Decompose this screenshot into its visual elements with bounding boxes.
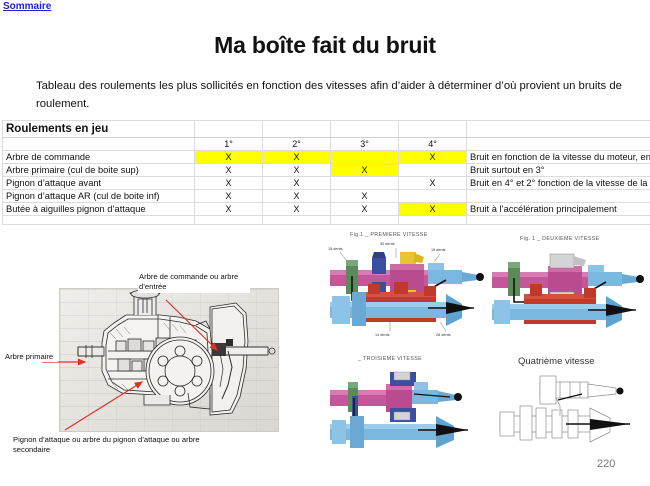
table-title-pad-note xyxy=(467,121,650,138)
trailing-c6 xyxy=(467,216,650,225)
bearing-note-cell: Bruit surtout en 3° xyxy=(467,164,650,177)
table-title-pad-1 xyxy=(195,121,263,138)
trailing-c5 xyxy=(399,216,467,225)
gear-cell-1: X xyxy=(195,203,263,216)
table-row: Butée à aiguilles pignon d’attaqueXXXXBr… xyxy=(3,203,650,216)
header-gear-1: 1° xyxy=(195,138,263,151)
gearbox-cutaway-drawing xyxy=(60,289,279,432)
trailing-c2 xyxy=(195,216,263,225)
photo-caption-primary-shaft: Arbre primaire xyxy=(4,352,58,362)
table-title-cell: Roulements en jeu xyxy=(3,121,195,138)
bearing-name-cell: Butée à aiguilles pignon d’attaque xyxy=(3,203,195,216)
bearings-table: Roulements en jeu 1° 2° 3° 4° Arbre de c… xyxy=(2,120,650,225)
trailing-c3 xyxy=(263,216,331,225)
gear-cell-2: X xyxy=(263,203,331,216)
page-title: Ma boîte fait du bruit xyxy=(0,32,650,59)
gear-cell-3 xyxy=(331,151,399,164)
gear-cell-3: X xyxy=(331,190,399,203)
table-trailing-row xyxy=(3,216,650,225)
gear-diagram-third: _ TROISIEME VITESSE xyxy=(328,354,488,474)
gear-cell-1: X xyxy=(195,151,263,164)
table-row: Pignon d’attaque avantXXXBruit en 4° et … xyxy=(3,177,650,190)
gear-diagram-first: Fig.1 _ PREMIERE VITESSE 15 dents 30 den… xyxy=(328,230,488,352)
table-title-pad-2 xyxy=(263,121,331,138)
sommaire-link[interactable]: Sommaire xyxy=(3,1,51,12)
header-gear-3: 3° xyxy=(331,138,399,151)
gear-cell-4: X xyxy=(399,203,467,216)
gear-cell-3 xyxy=(331,177,399,190)
gear-cell-1: X xyxy=(195,164,263,177)
bearing-name-cell: Pignon d’attaque AR (cul de boite inf) xyxy=(3,190,195,203)
header-blank xyxy=(3,138,195,151)
table-row: Arbre primaire (cul de boite sup)XXXBrui… xyxy=(3,164,650,177)
page-number: 220 xyxy=(597,458,615,470)
header-note xyxy=(467,138,650,151)
trailing-c4 xyxy=(331,216,399,225)
bearing-note-cell: Bruit en 4° et 2° fonction de la vitesse… xyxy=(467,177,650,190)
gear-cell-2: X xyxy=(263,151,331,164)
gear-cell-3: X xyxy=(331,164,399,177)
intro-paragraph: Tableau des roulements les plus sollicit… xyxy=(36,78,626,113)
gear-diagram-second: Fig. 1 _ DEUXIEME VITESSE xyxy=(488,232,650,354)
header-gear-2: 2° xyxy=(263,138,331,151)
header-gear-4: 4° xyxy=(399,138,467,151)
gear-cell-4: X xyxy=(399,177,467,190)
table-row: Pignon d’attaque AR (cul de boite inf)XX… xyxy=(3,190,650,203)
bearing-name-cell: Arbre de commande xyxy=(3,151,195,164)
gear-cell-2: X xyxy=(263,164,331,177)
bearing-note-cell xyxy=(467,190,650,203)
bearing-name-cell: Arbre primaire (cul de boite sup) xyxy=(3,164,195,177)
gear-cell-1: X xyxy=(195,190,263,203)
gear-cell-4 xyxy=(399,190,467,203)
gear-diagram-fourth: Quatrième vitesse xyxy=(490,354,650,474)
gear-cell-4 xyxy=(399,164,467,177)
gear-cell-4: X xyxy=(399,151,467,164)
table-title-pad-4 xyxy=(399,121,467,138)
gear-cell-2: X xyxy=(263,190,331,203)
photo-caption-output-shaft: Pignon d’attaque ou arbre du pignon d’at… xyxy=(12,435,230,456)
bearing-note-cell: Bruit à l’accélération principalement xyxy=(467,203,650,216)
table-row: Arbre de commandeXXXBruit en fonction de… xyxy=(3,151,650,164)
table-title-row: Roulements en jeu xyxy=(3,121,650,138)
trailing-c1 xyxy=(3,216,195,225)
bearings-table-container: Roulements en jeu 1° 2° 3° 4° Arbre de c… xyxy=(2,120,648,225)
table-header-row: 1° 2° 3° 4° xyxy=(3,138,650,151)
bearing-note-cell: Bruit en fonction de la vitesse du moteu… xyxy=(467,151,650,164)
gearbox-cutaway-image xyxy=(59,288,279,432)
gear-cell-1: X xyxy=(195,177,263,190)
photo-caption-input-shaft: Arbre de commande ou arbre d’entrée xyxy=(138,272,250,293)
gearbox-photo-block: Arbre de commande ou arbre d’entrée Arbr… xyxy=(2,272,324,480)
gear-cell-2: X xyxy=(263,177,331,190)
gear-cell-3: X xyxy=(331,203,399,216)
table-title-pad-3 xyxy=(331,121,399,138)
gear-diagrams-panel: Fig.1 _ PREMIERE VITESSE 15 dents 30 den… xyxy=(328,230,650,486)
bearing-name-cell: Pignon d’attaque avant xyxy=(3,177,195,190)
